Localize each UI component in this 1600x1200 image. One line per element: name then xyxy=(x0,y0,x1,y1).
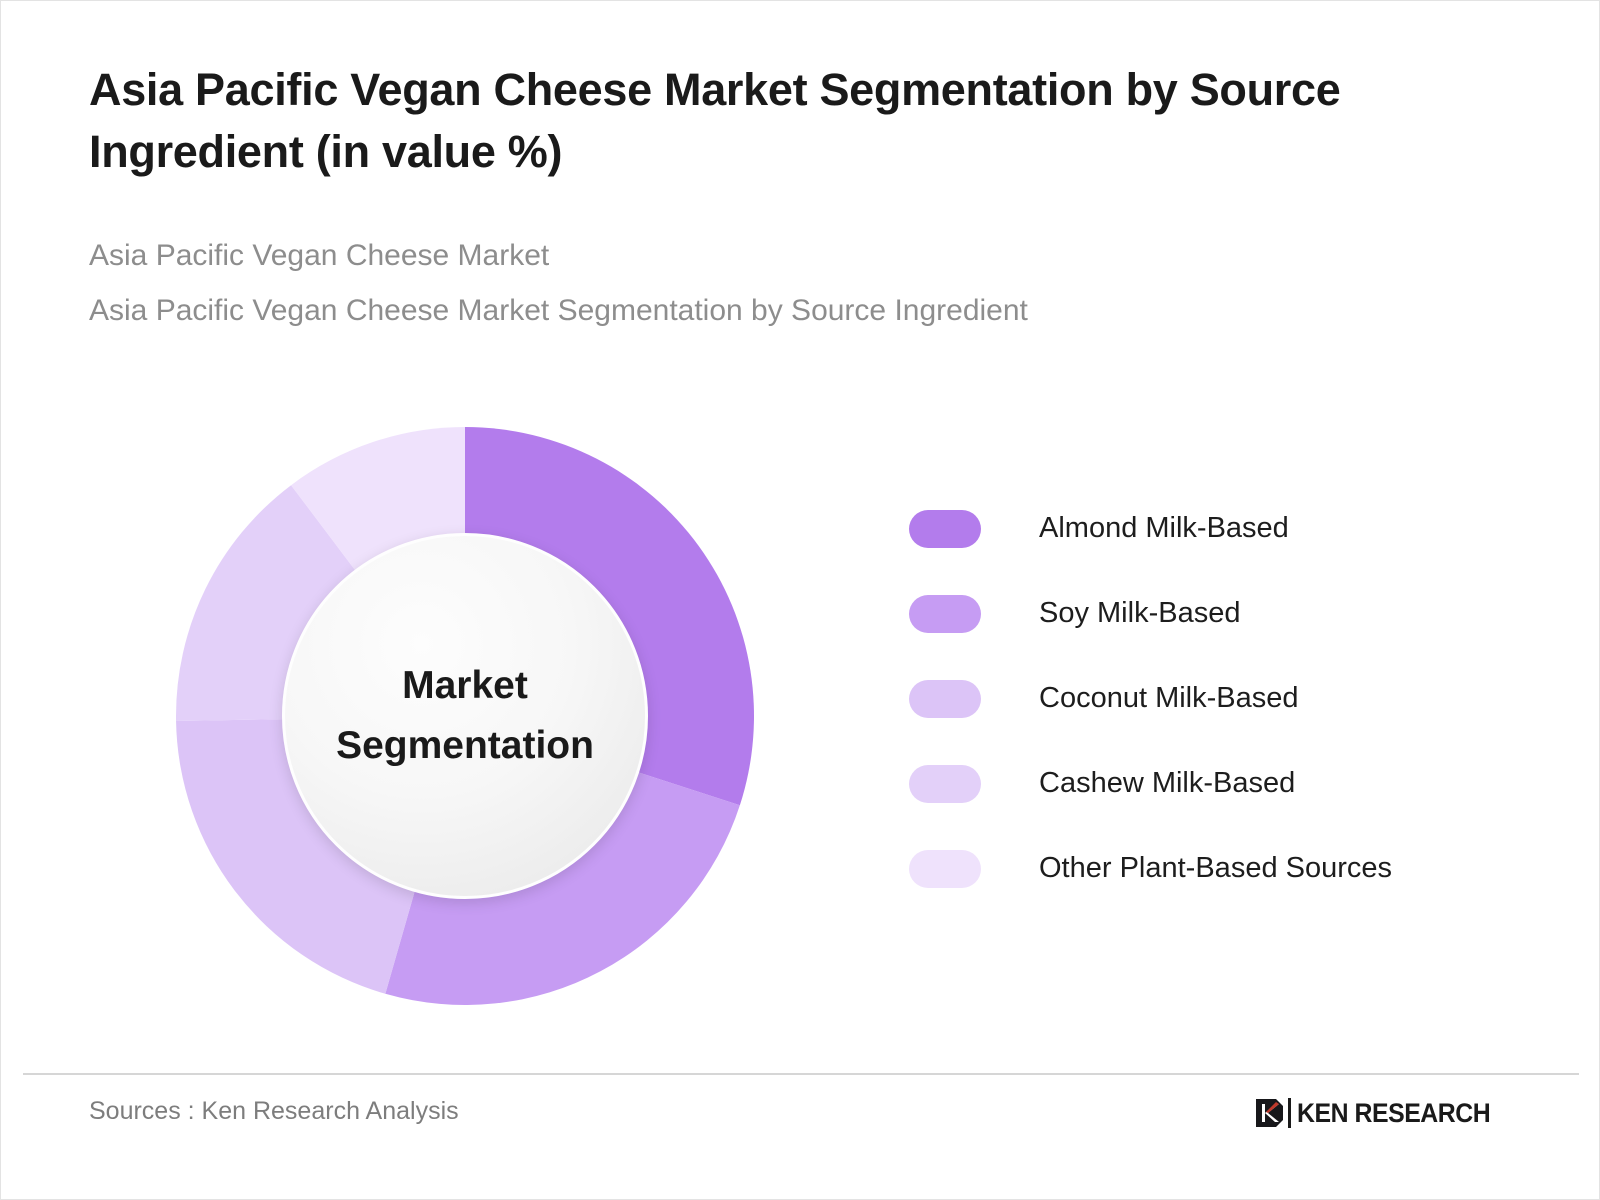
footer-divider xyxy=(23,1073,1579,1075)
legend-item[interactable]: Coconut Milk-Based xyxy=(909,656,1529,741)
legend-swatch-icon xyxy=(909,850,981,888)
legend-swatch-icon xyxy=(909,765,981,803)
chart-area: Market Segmentation Almond Milk-BasedSoy… xyxy=(1,401,1600,1041)
legend-label: Soy Milk-Based xyxy=(1039,597,1240,630)
donut-center-line-1: Market xyxy=(402,656,528,716)
donut-center-label: Market Segmentation xyxy=(282,533,648,899)
donut-center-line-2: Segmentation xyxy=(336,716,594,776)
legend-label: Other Plant-Based Sources xyxy=(1039,852,1392,885)
ken-research-badge-icon xyxy=(1254,1095,1284,1131)
legend-item[interactable]: Other Plant-Based Sources xyxy=(909,826,1529,911)
donut-chart: Market Segmentation xyxy=(176,427,754,1005)
footer-source-text: Sources : Ken Research Analysis xyxy=(89,1097,459,1126)
ken-research-logo: KEN RESEARCH xyxy=(1254,1095,1507,1131)
legend-swatch-icon xyxy=(909,680,981,718)
header: Asia Pacific Vegan Cheese Market Segment… xyxy=(89,59,1489,338)
slide-canvas: Asia Pacific Vegan Cheese Market Segment… xyxy=(0,0,1600,1200)
legend-item[interactable]: Almond Milk-Based xyxy=(909,486,1529,571)
legend-label: Cashew Milk-Based xyxy=(1039,767,1295,800)
subtitle-line-1: Asia Pacific Vegan Cheese Market xyxy=(89,229,1489,284)
brand-name: KEN RESEARCH xyxy=(1297,1098,1490,1129)
legend-label: Almond Milk-Based xyxy=(1039,512,1289,545)
legend-item[interactable]: Soy Milk-Based xyxy=(909,571,1529,656)
legend-item[interactable]: Cashew Milk-Based xyxy=(909,741,1529,826)
page-title: Asia Pacific Vegan Cheese Market Segment… xyxy=(89,59,1479,183)
legend-swatch-icon xyxy=(909,510,981,548)
legend-swatch-icon xyxy=(909,595,981,633)
logo-divider xyxy=(1288,1098,1291,1128)
subtitle-block: Asia Pacific Vegan Cheese Market Asia Pa… xyxy=(89,229,1489,338)
subtitle-line-2: Asia Pacific Vegan Cheese Market Segment… xyxy=(89,284,1489,339)
legend-label: Coconut Milk-Based xyxy=(1039,682,1299,715)
chart-legend: Almond Milk-BasedSoy Milk-BasedCoconut M… xyxy=(909,486,1529,911)
